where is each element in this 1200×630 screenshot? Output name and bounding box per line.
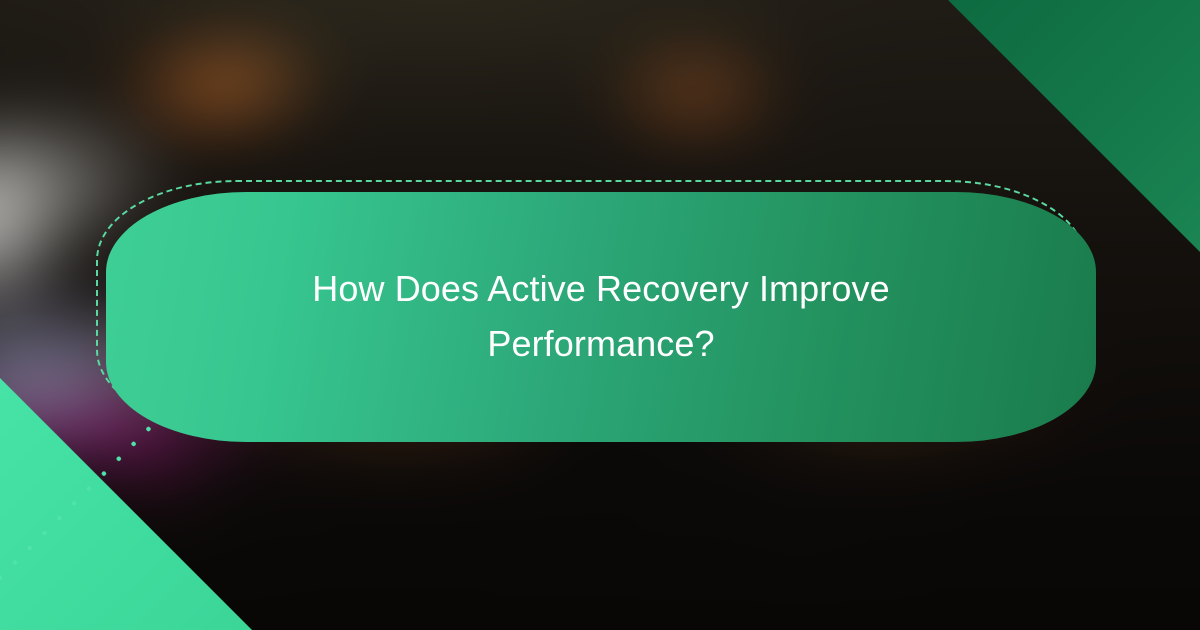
headline-card: How Does Active Recovery Improve Perform… (106, 192, 1096, 442)
social-card-stage: How Does Active Recovery Improve Perform… (0, 0, 1200, 630)
page-title: How Does Active Recovery Improve Perform… (281, 261, 921, 373)
